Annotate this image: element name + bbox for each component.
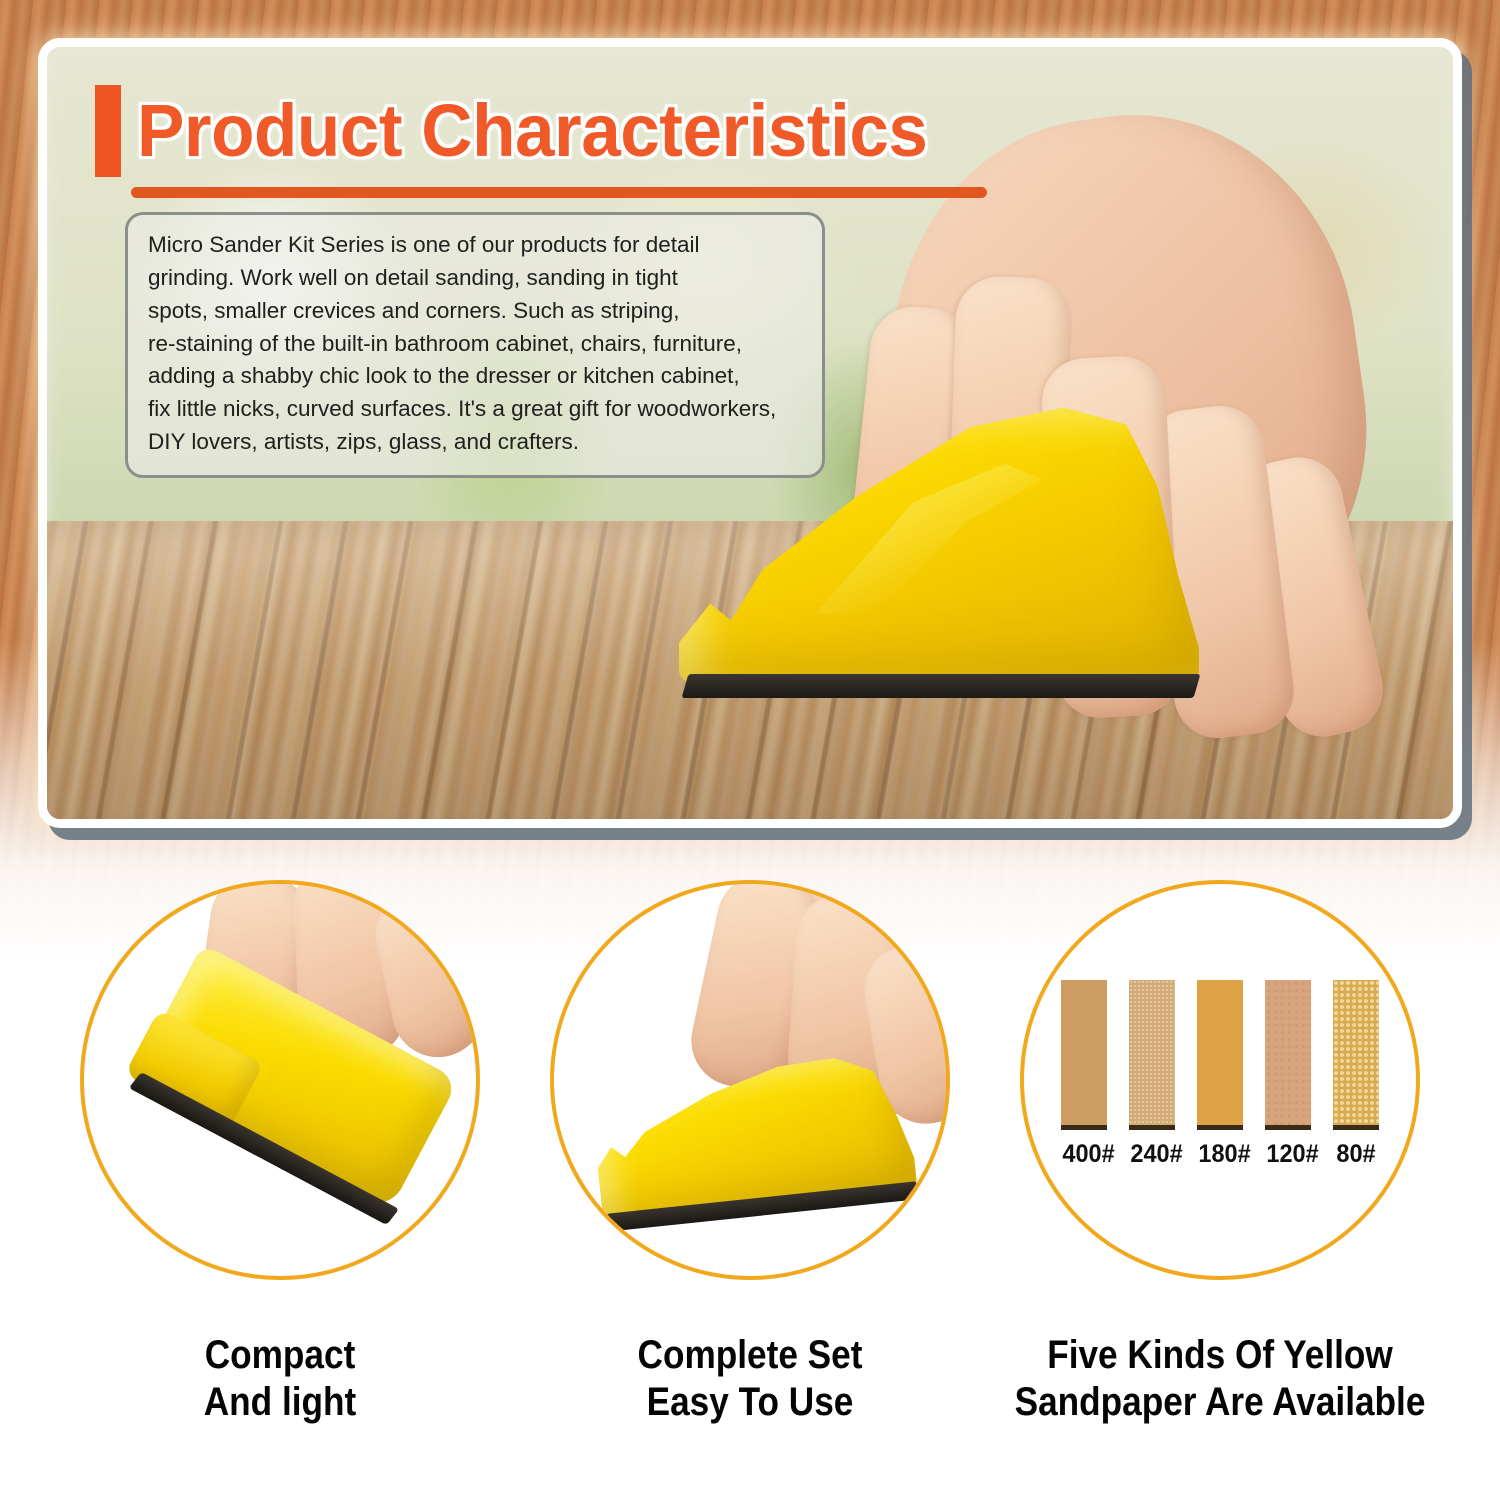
sandpaper-strip	[1333, 980, 1379, 1130]
sandpaper-strip-column: 120#	[1265, 980, 1311, 1169]
sander-black-pad	[682, 674, 1201, 698]
hero-panel: Product Characteristics Micro Sander Kit…	[38, 38, 1462, 828]
feature-card-compact-and-light[interactable]: Compact And light	[45, 880, 515, 1426]
thumb2-sander	[589, 1048, 920, 1240]
sandpaper-strip	[1197, 980, 1243, 1130]
feature-caption-1: Compact And light	[73, 1332, 487, 1426]
page-title-row: Product Characteristics	[95, 85, 960, 177]
page-title: Product Characteristics	[137, 94, 927, 168]
sandpaper-grit-label: 400#	[1062, 1140, 1105, 1169]
feature-card-sandpaper-grits[interactable]: 400#240#180#120#80# Five Kinds Of Yellow…	[985, 880, 1455, 1426]
sandpaper-strip-column: 240#	[1129, 980, 1175, 1169]
feature-circle-image-1	[80, 880, 480, 1280]
sandpaper-strip-grid: 400#240#180#120#80#	[1024, 980, 1416, 1169]
sandpaper-strip	[1061, 980, 1107, 1130]
description-text: Micro Sander Kit Series is one of our pr…	[148, 229, 802, 459]
sandpaper-grit-label: 80#	[1334, 1140, 1377, 1169]
sandpaper-grit-label: 180#	[1198, 1140, 1241, 1169]
sandpaper-strip-column: 180#	[1197, 980, 1243, 1169]
feature-circle-image-3: 400#240#180#120#80#	[1020, 880, 1420, 1280]
title-accent-bar	[95, 85, 121, 177]
sandpaper-grit-label: 240#	[1130, 1140, 1173, 1169]
description-box: Micro Sander Kit Series is one of our pr…	[125, 212, 825, 478]
title-underline-bar	[131, 187, 987, 198]
feature-circle-image-2	[550, 880, 950, 1280]
feature-caption-3: Five Kinds Of Yellow Sandpaper Are Avail…	[1013, 1332, 1427, 1426]
sandpaper-strip	[1265, 980, 1311, 1130]
feature-thumbnail-row: Compact And light Complete Set Easy To U…	[0, 880, 1500, 1500]
sandpaper-strip-column: 80#	[1333, 980, 1379, 1169]
product-infographic-page: Product Characteristics Micro Sander Kit…	[0, 0, 1500, 1500]
sandpaper-grit-label: 120#	[1266, 1140, 1309, 1169]
feature-caption-2: Complete Set Easy To Use	[543, 1332, 957, 1426]
sandpaper-strip	[1129, 980, 1175, 1130]
feature-card-complete-set[interactable]: Complete Set Easy To Use	[515, 880, 985, 1426]
sandpaper-strip-column: 400#	[1061, 980, 1107, 1169]
